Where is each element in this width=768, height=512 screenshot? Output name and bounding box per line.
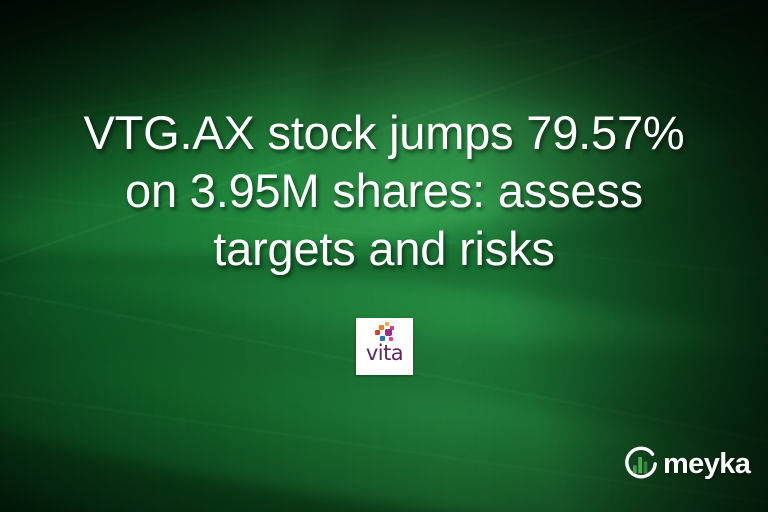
vita-wordmark: vita [366,343,403,364]
vita-dot-cluster-icon [372,322,398,342]
social-share-card: VTG.AX stock jumps 79.57% on 3.95M share… [0,0,768,512]
meyka-wordmark: meyka [663,450,750,479]
company-logo: vita [356,318,413,375]
headline: VTG.AX stock jumps 79.57% on 3.95M share… [0,104,768,278]
meyka-chart-ring-icon [621,444,661,484]
brand-logo: meyka [621,444,750,484]
